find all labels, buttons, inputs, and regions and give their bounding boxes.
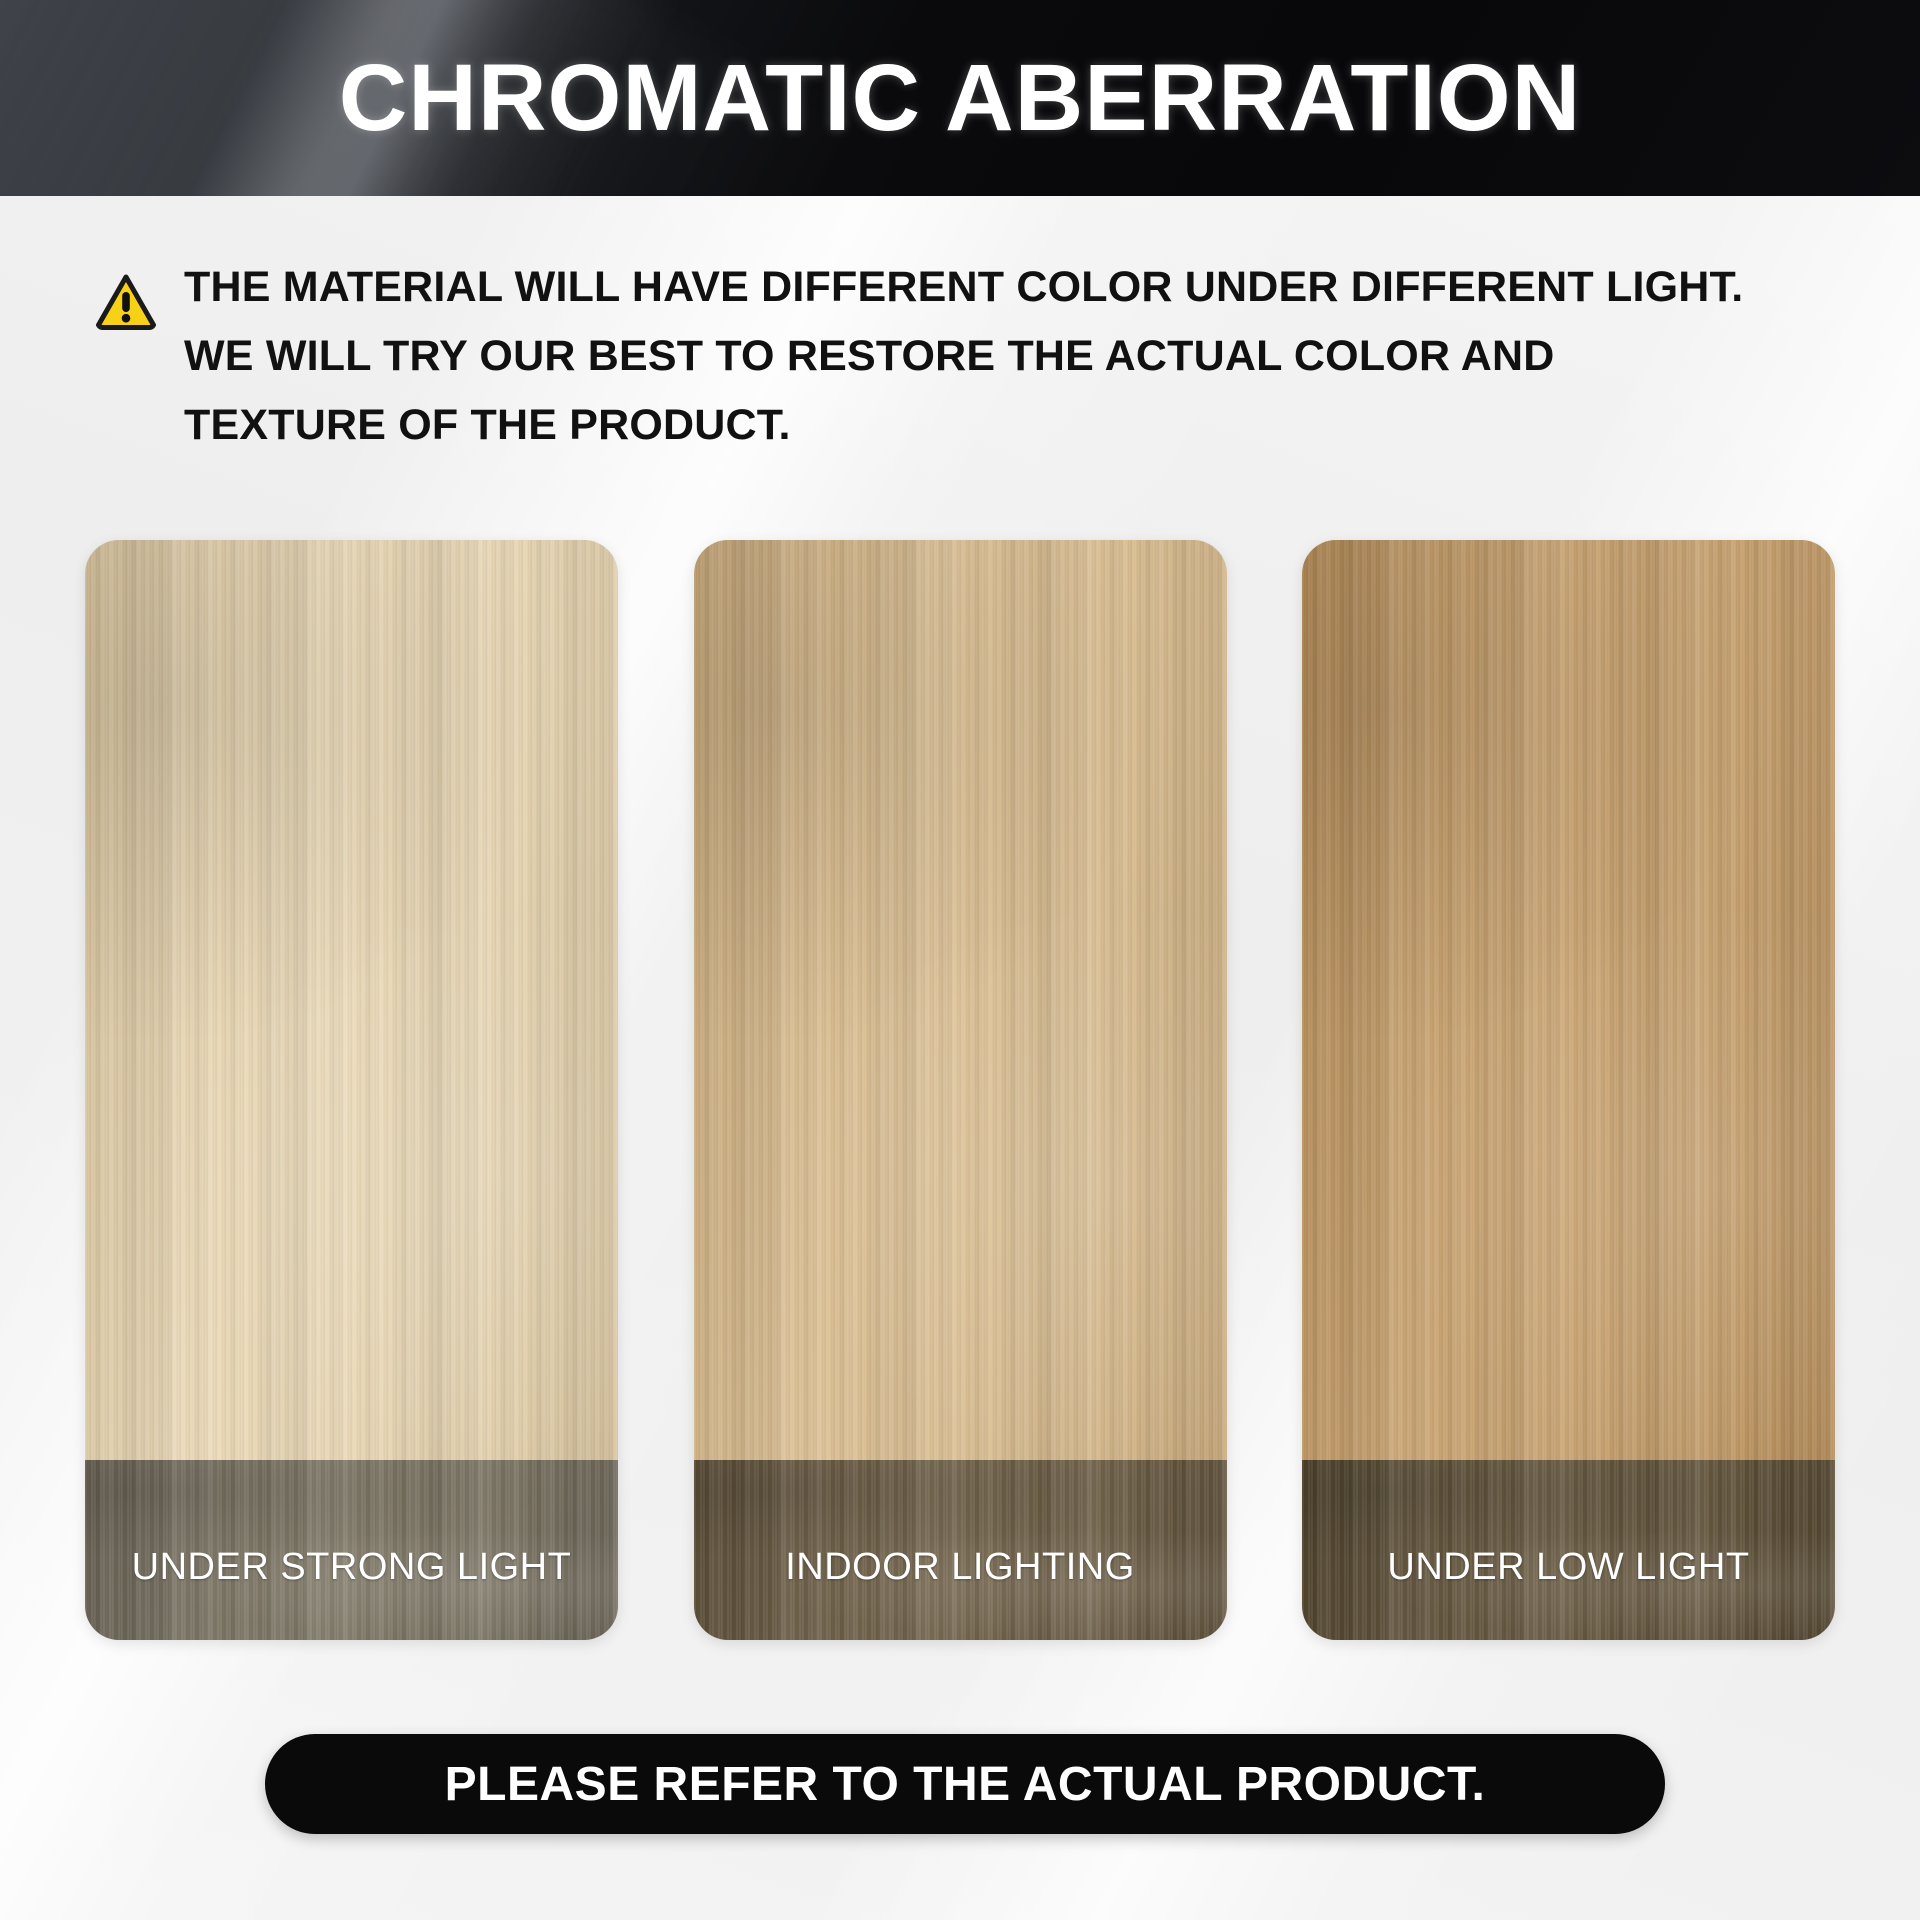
- notice-line-3: TEXTURE OF THE PRODUCT.: [184, 404, 1743, 447]
- footer-callout-text: PLEASE REFER TO THE ACTUAL PRODUCT.: [445, 1757, 1486, 1812]
- wood-surface-top: [85, 540, 618, 1460]
- notice-line-1: THE MATERIAL WILL HAVE DIFFERENT COLOR U…: [184, 266, 1743, 309]
- wood-surface-top: [1302, 540, 1835, 1460]
- warning-notice: THE MATERIAL WILL HAVE DIFFERENT COLOR U…: [96, 264, 1816, 447]
- promo-graphic-root: CHROMATIC ABERRATION THE MATERIAL WILL H…: [0, 0, 1920, 1920]
- notice-line-2: WE WILL TRY OUR BEST TO RESTORE THE ACTU…: [184, 335, 1743, 378]
- wood-shading: [694, 540, 1227, 1460]
- wood-surface-top: [694, 540, 1227, 1460]
- swatch-panel-group: UNDER STRONG LIGHT INDOOR LIGHTING: [85, 540, 1835, 1640]
- swatch-label: UNDER LOW LIGHT: [1302, 1546, 1835, 1589]
- page-title: CHROMATIC ABERRATION: [0, 0, 1920, 196]
- swatch-panel-indoor-lighting[interactable]: INDOOR LIGHTING: [694, 540, 1227, 1640]
- wood-shading: [85, 540, 618, 1460]
- footer-callout-pill: PLEASE REFER TO THE ACTUAL PRODUCT.: [265, 1734, 1665, 1834]
- wood-grain-texture: [85, 540, 618, 1460]
- swatch-label: INDOOR LIGHTING: [694, 1546, 1227, 1589]
- swatch-panel-strong-light[interactable]: UNDER STRONG LIGHT: [85, 540, 618, 1640]
- warning-triangle-icon: [96, 274, 156, 330]
- header-banner: CHROMATIC ABERRATION: [0, 0, 1920, 196]
- wood-grain-texture: [1302, 540, 1835, 1460]
- wood-grain-texture: [694, 540, 1227, 1460]
- wood-shading: [1302, 540, 1835, 1460]
- swatch-panel-low-light[interactable]: UNDER LOW LIGHT: [1302, 540, 1835, 1640]
- swatch-label: UNDER STRONG LIGHT: [85, 1546, 618, 1589]
- notice-text-block: THE MATERIAL WILL HAVE DIFFERENT COLOR U…: [184, 264, 1743, 447]
